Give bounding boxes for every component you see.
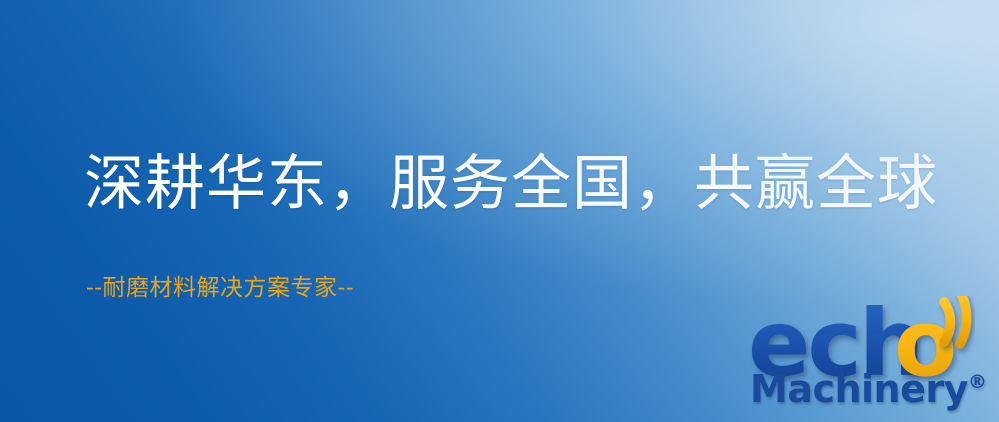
- hero-banner: 深耕华东，服务全国，共赢全球 --耐磨材料解决方案专家--: [0, 0, 999, 422]
- logo-wordmark-text: Machinery: [750, 367, 968, 411]
- echo-machinery-logo[interactable]: ech o Machinery®: [748, 296, 996, 420]
- banner-headline: 深耕华东，服务全国，共赢全球: [84, 152, 938, 217]
- registered-trademark-icon: ®: [968, 371, 987, 393]
- logo-wordmark: Machinery®: [750, 370, 987, 408]
- banner-subtitle: --耐磨材料解决方案专家--: [86, 268, 354, 302]
